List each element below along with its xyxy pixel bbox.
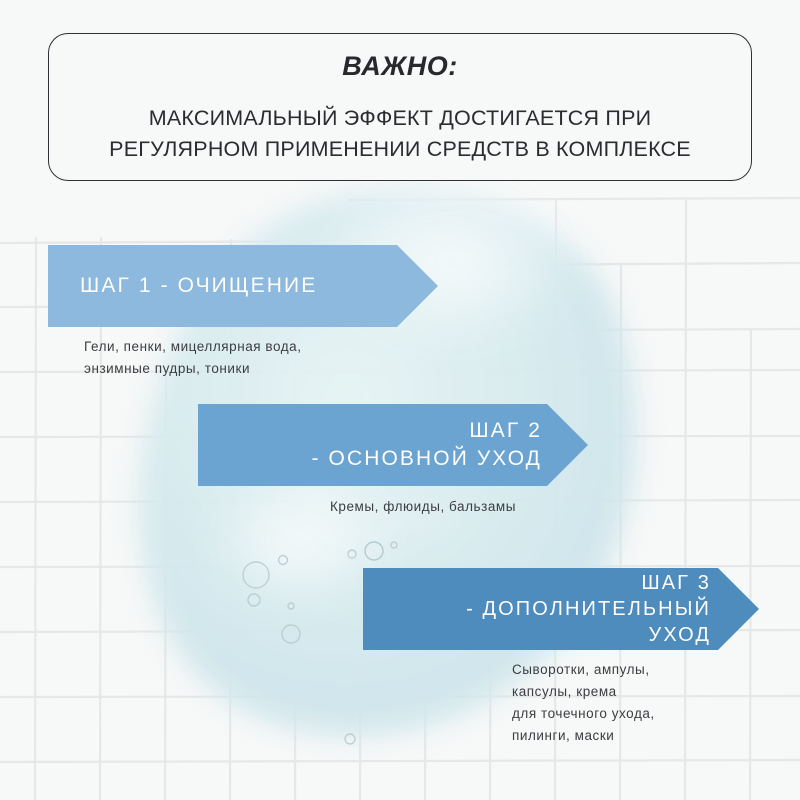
step-caption-3: Сыворотки, ампулы, капсулы, крема для то…: [512, 659, 655, 746]
step-banner-3-label: ШАГ 3 - ДОПОЛНИТЕЛЬНЫЙ УХОД: [363, 570, 719, 648]
step-caption-2: Кремы, флюиды, бальзамы: [330, 496, 516, 518]
callout-title: ВАЖНО:: [342, 53, 458, 80]
step-banner-2-label: ШАГ 2 - ОСНОВНОЙ УХОД: [198, 417, 550, 472]
callout-body-text: МАКСИМАЛЬНЫЙ ЭФФЕКТ ДОСТИГАЕТСЯ ПРИ РЕГУ…: [109, 103, 691, 164]
step-banner-2[interactable]: ШАГ 2 - ОСНОВНОЙ УХОД: [198, 404, 588, 486]
step-banner-1[interactable]: ШАГ 1 - ОЧИЩЕНИЕ: [48, 245, 438, 327]
step-caption-1: Гели, пенки, мицеллярная вода, энзимные …: [84, 336, 302, 380]
step-banner-3[interactable]: ШАГ 3 - ДОПОЛНИТЕЛЬНЫЙ УХОД: [363, 568, 759, 650]
important-callout-box: ВАЖНО: МАКСИМАЛЬНЫЙ ЭФФЕКТ ДОСТИГАЕТСЯ П…: [48, 33, 752, 181]
infographic-canvas: ВАЖНО: МАКСИМАЛЬНЫЙ ЭФФЕКТ ДОСТИГАЕТСЯ П…: [0, 0, 800, 800]
step-banner-1-label: ШАГ 1 - ОЧИЩЕНИЕ: [48, 272, 317, 300]
